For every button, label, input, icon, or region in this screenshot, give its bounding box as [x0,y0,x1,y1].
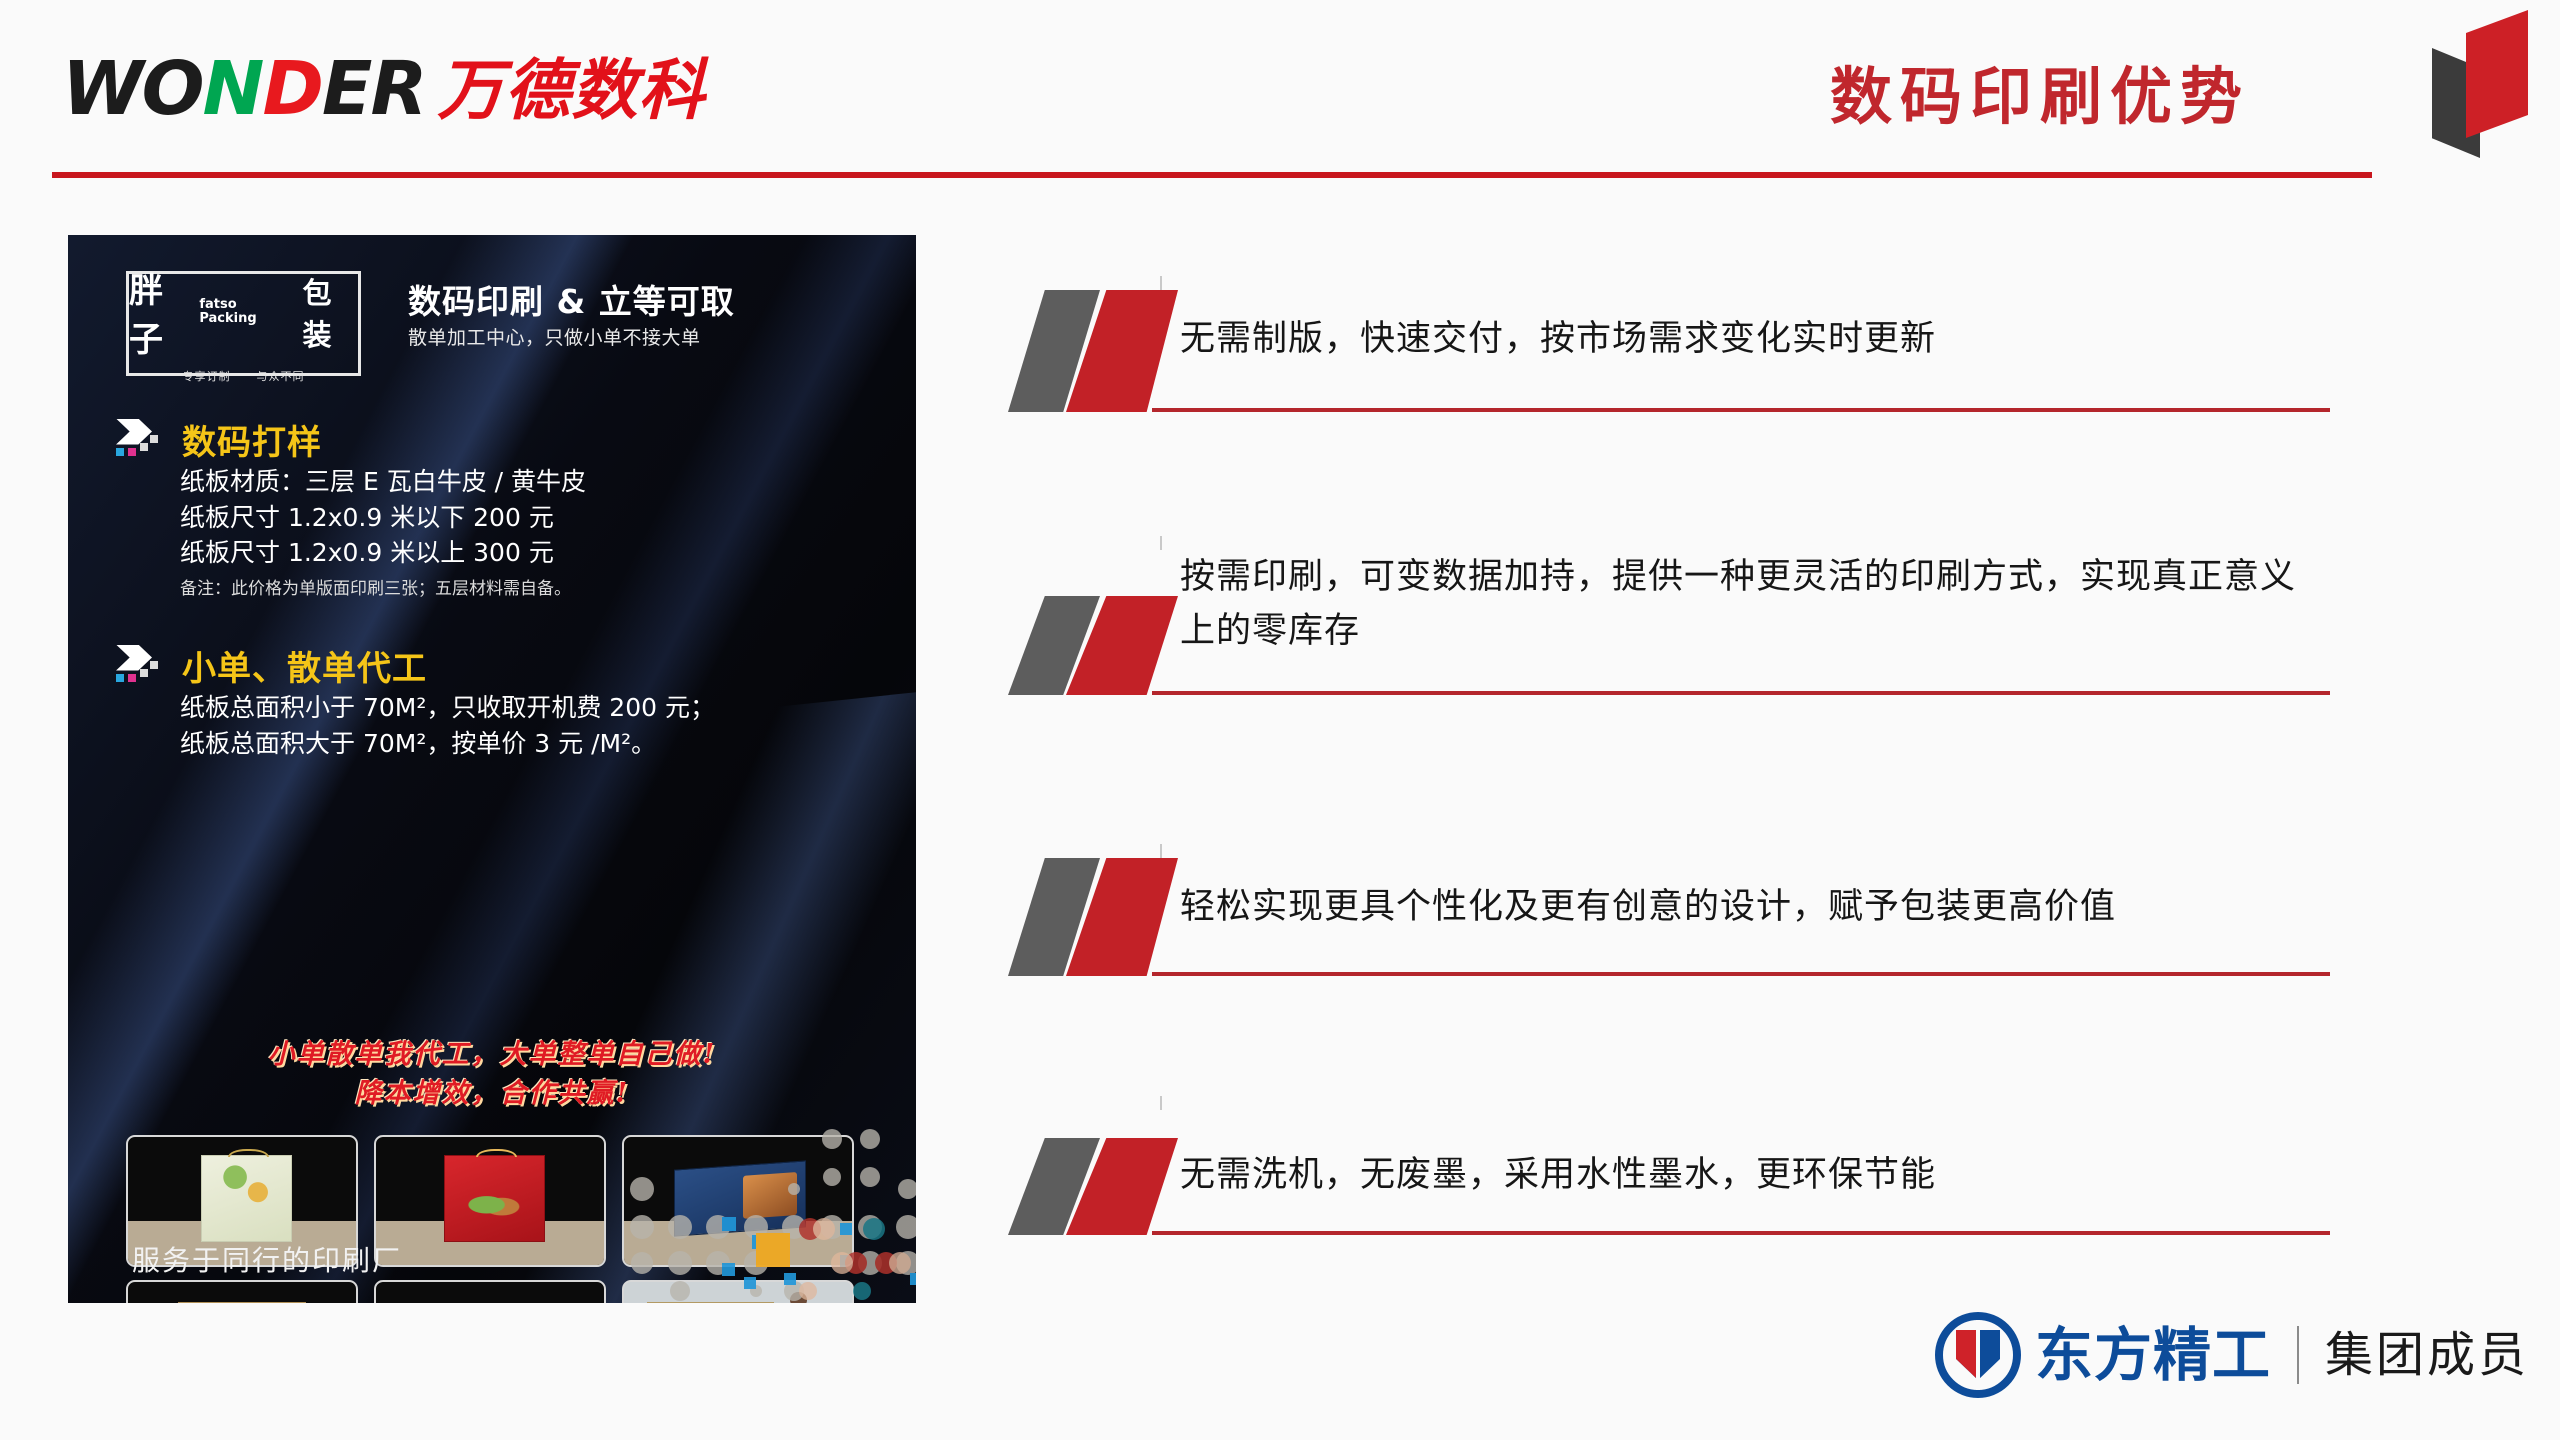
bullet-tick-mark [1160,536,1162,550]
bullet-tick-mark [1160,1096,1162,1110]
double-chevron-icon [1000,290,1160,412]
section-line: 纸板总面积大于 70M²，按单价 3 元 /M²。 [180,726,904,762]
corner-shape-red [2466,10,2528,138]
advantage-item[interactable]: 轻松实现更具个性化及更有创意的设计，赋予包装更高价值 [1000,858,2330,976]
logo-part-wo: WO [62,54,203,124]
double-chevron-icon [1000,596,1160,695]
section-note: 备注：此价格为单版面印刷三张；五层材料需自备。 [180,574,904,599]
badge-tag-right: 与众不同 [257,368,305,384]
product-photo [374,1280,606,1303]
section-heading: 数码打样 [114,415,904,464]
badge-tag-left: 专享订制 [183,368,231,384]
bullet-tick-mark [1160,844,1162,858]
section-heading: 小单、散单代工 [114,641,904,690]
logo-part-er: ER [322,54,426,124]
company-name: 东方精工 [2035,1326,2271,1384]
poster-section-proofing: 数码打样 纸板材质：三层 E 瓦白牛皮 / 黄牛皮 纸板尺寸 1.2x0.9 米… [114,415,904,599]
fatso-packing-badge: 胖子 fatso Packing 包装 专享订制 与众不同 [126,271,361,376]
advantage-underline [1152,408,2330,412]
section-line: 纸板材质：三层 E 瓦白牛皮 / 黄牛皮 [180,464,904,500]
section-line: 纸板总面积小于 70M²，只收取开机费 200 元； [180,690,904,726]
badge-en: fatso Packing [199,298,297,325]
group-member-label: 集团成员 [2325,1331,2529,1379]
logo-part-n: N [203,54,263,124]
wonder-wordmark: WONDER [62,54,425,124]
logo-chinese-name: 万德数科 [437,58,705,124]
section-line: 纸板尺寸 1.2x0.9 米以下 200 元 [180,500,904,536]
badge-bottom-row: 专享订制 与众不同 [183,368,305,384]
section-line: 纸板尺寸 1.2x0.9 米以上 300 元 [180,535,904,571]
poster-section-small-orders: 小单、散单代工 纸板总面积小于 70M²，只收取开机费 200 元； 纸板总面积… [114,641,904,761]
group-member-logo: 东方精工 集团成员 [1935,1312,2529,1398]
bullet-tick-mark [1160,276,1162,290]
wonder-brand-logo: WONDER 万德数科 [62,48,705,124]
badge-top-row: 胖子 fatso Packing 包装 [129,263,358,361]
section-title: 小单、散单代工 [182,641,427,690]
page-header: WONDER 万德数科 数码印刷优势 [0,0,2560,190]
poster-footer-text: 服务于同行的印刷厂 [132,1239,402,1279]
dongfang-emblem-icon [1935,1312,2021,1398]
slogan-line-1: 小单散单我代工，大单整单自己做! [68,1035,916,1074]
product-photo [126,1280,358,1303]
chevron-arrow-icon [114,644,168,688]
double-chevron-icon [1000,858,1160,976]
badge-cn-2: 包装 [303,270,358,354]
poster-header: 胖子 fatso Packing 包装 专享订制 与众不同 数码印刷 & 立等可… [68,235,916,385]
badge-cn-1: 胖子 [129,263,194,361]
advantage-text: 轻松实现更具个性化及更有创意的设计，赋予包装更高价值 [1180,880,2330,934]
advantage-item[interactable]: 无需洗机，无废墨，采用水性墨水，更环保节能 [1000,1110,2330,1235]
advantage-underline [1152,691,2330,695]
logo-part-d: D [262,54,321,124]
dot-pattern-decoration [624,1077,916,1303]
product-photo [374,1135,606,1267]
advantage-item[interactable]: 按需印刷，可变数据加持，提供一种更灵活的印刷方式，实现真正意义上的零库存 [1000,550,2330,695]
double-chevron-icon [1000,1138,1160,1235]
advantage-text: 无需制版，快速交付，按市场需求变化实时更新 [1180,312,2330,366]
promo-poster-image: 胖子 fatso Packing 包装 专享订制 与众不同 数码印刷 & 立等可… [68,235,916,1303]
page-title: 数码印刷优势 [1830,46,2250,136]
logo-divider [2297,1326,2299,1384]
poster-headline: 数码印刷 & 立等可取 [408,275,735,323]
header-divider [52,172,2372,178]
advantage-text: 按需印刷，可变数据加持，提供一种更灵活的印刷方式，实现真正意义上的零库存 [1180,550,2330,659]
poster-subhead: 散单加工中心，只做小单不接大单 [408,323,701,350]
advantage-underline [1152,972,2330,976]
corner-emblem-icon [2424,4,2540,160]
advantage-text: 无需洗机，无废墨，采用水性墨水，更环保节能 [1180,1148,2330,1202]
chevron-arrow-icon [114,418,168,462]
advantage-underline [1152,1231,2330,1235]
section-title: 数码打样 [182,415,322,464]
advantage-item[interactable]: 无需制版，快速交付，按市场需求变化实时更新 [1000,290,2330,412]
